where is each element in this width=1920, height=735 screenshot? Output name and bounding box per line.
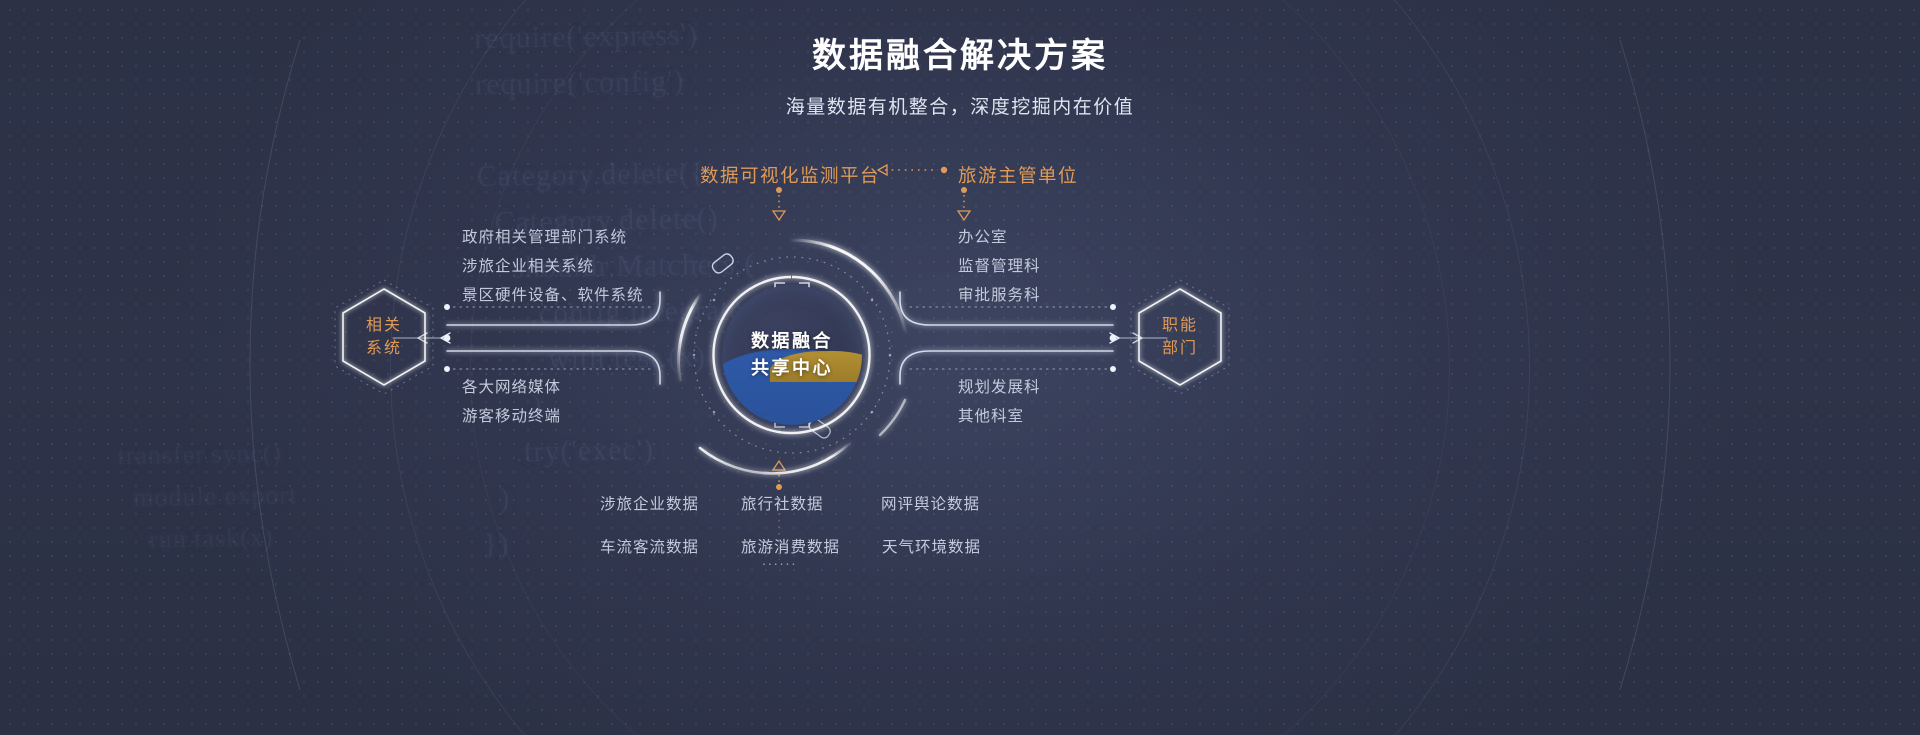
dept-label-planning: 规划发展科	[958, 375, 1041, 397]
source-label-enterprise: 涉旅企业相关系统	[462, 254, 594, 276]
dept-label-office: 办公室	[958, 225, 1008, 247]
dept-label-supervision: 监督管理科	[958, 254, 1041, 276]
badge-right-line2: 部门	[1162, 337, 1198, 360]
page-header: 数据融合解决方案 海量数据有机整合，深度挖掘内在价值	[0, 34, 1920, 119]
heading-visualization-platform[interactable]: 数据可视化监测平台	[700, 162, 880, 188]
page-title: 数据融合解决方案	[0, 34, 1920, 78]
badge-left-line1: 相关	[366, 314, 402, 337]
badge-left-line2: 系统	[366, 337, 402, 360]
dept-label-approval: 审批服务科	[958, 283, 1041, 305]
source-label-scenic-hw-sw: 景区硬件设备、软件系统	[462, 283, 644, 305]
source-label-government: 政府相关管理部门系统	[462, 225, 627, 247]
badge-functional-departments[interactable]: 职能 部门	[1128, 278, 1232, 396]
sphere-label-line2: 共享中心	[751, 355, 833, 382]
data-more-ellipsis: ......	[762, 552, 797, 568]
center-sphere: 数据融合 共享中心	[722, 285, 862, 425]
badge-left-label: 相关 系统	[332, 278, 436, 396]
badge-right-line1: 职能	[1162, 314, 1198, 337]
sphere-label-line1: 数据融合	[751, 328, 833, 355]
diagram-canvas: require('express') require('config') Cat…	[0, 0, 1920, 735]
data-label-weather: 天气环境数据	[882, 535, 981, 557]
ring-marker-capsule	[710, 252, 735, 275]
dept-label-other: 其他科室	[958, 404, 1024, 426]
badge-right-label: 职能 部门	[1128, 278, 1232, 396]
data-label-traffic: 车流客流数据	[600, 535, 699, 557]
source-label-tourist-mobile: 游客移动终端	[462, 404, 561, 426]
heading-tourism-authority[interactable]: 旅游主管单位	[958, 162, 1078, 188]
data-row: 涉旅企业数据 旅行社数据 网评舆论数据	[600, 492, 980, 514]
page-subtitle: 海量数据有机整合，深度挖掘内在价值	[0, 92, 1920, 119]
source-label-network-media: 各大网络媒体	[462, 375, 561, 397]
data-label-opinion: 网评舆论数据	[881, 492, 980, 514]
badge-related-systems[interactable]: 相关 系统	[332, 278, 436, 396]
sphere-label: 数据融合 共享中心	[722, 285, 862, 425]
data-label-enterprise: 涉旅企业数据	[600, 492, 699, 514]
data-label-agency: 旅行社数据	[741, 492, 839, 514]
